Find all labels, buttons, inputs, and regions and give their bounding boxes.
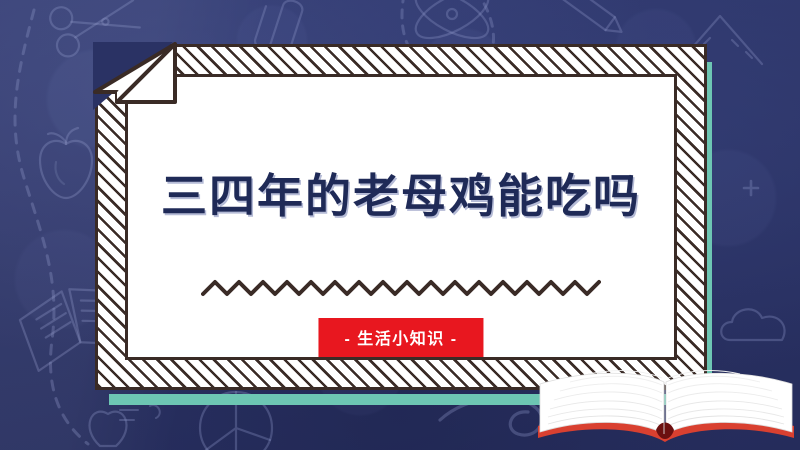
zigzag-divider <box>201 278 601 298</box>
status-badge: - 生活小知识 - <box>318 318 483 357</box>
title-card: 三四年的老母鸡能吃吗 - 生活小知识 - <box>95 44 707 390</box>
slide-canvas: 三四年的老母鸡能吃吗 - 生活小知识 - <box>0 0 800 450</box>
page-title: 三四年的老母鸡能吃吗 <box>129 160 673 226</box>
open-book-illustration <box>534 350 800 450</box>
card-content: 三四年的老母鸡能吃吗 - 生活小知识 - <box>129 78 673 356</box>
